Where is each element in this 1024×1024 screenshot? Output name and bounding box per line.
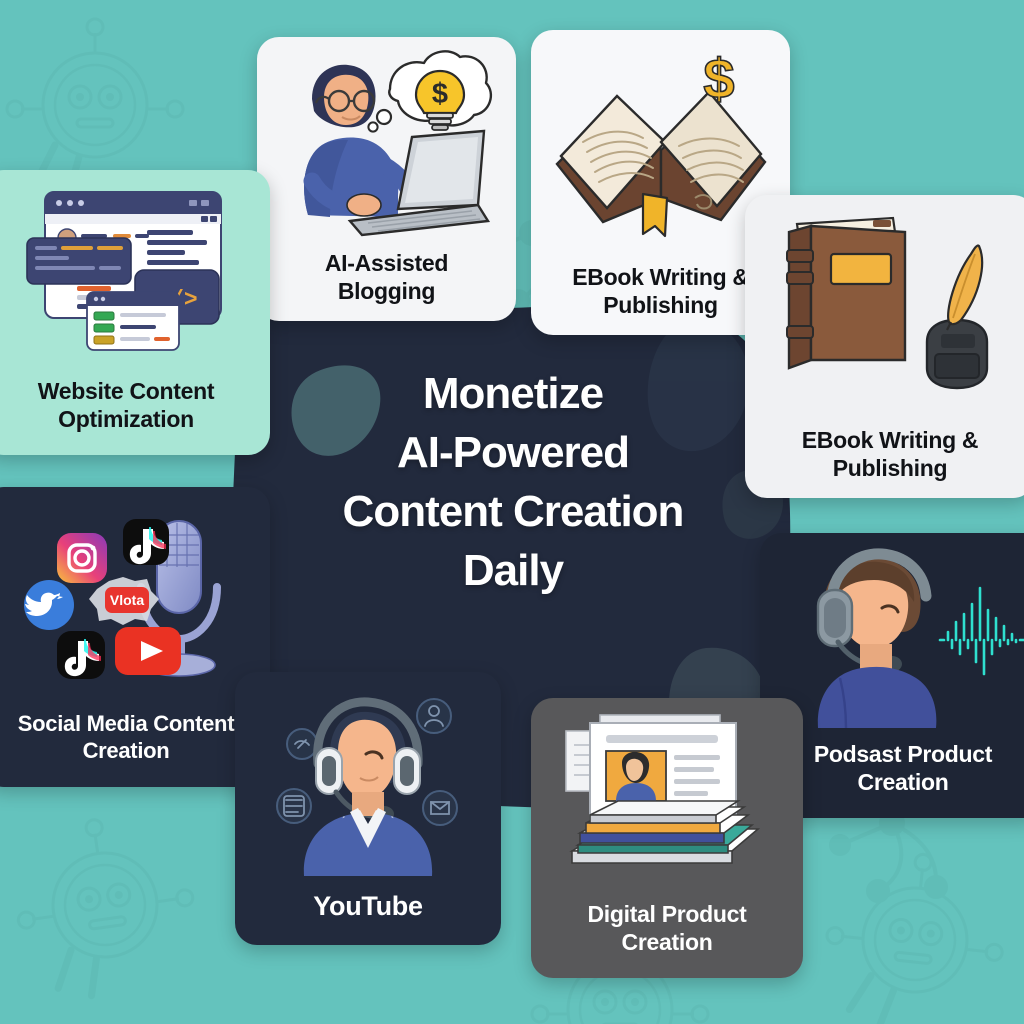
headline-line-2: AI-Powered <box>283 424 743 483</box>
person-laptop-idea-icon: $ <box>257 37 516 249</box>
leather-book-quill-icon <box>745 195 1024 426</box>
page-title: Monetize AI-Powered Content Creation Dai… <box>283 365 743 601</box>
card-label: Digital Product Creation <box>531 900 803 978</box>
card-label-line-2: Publishing <box>753 454 1024 482</box>
card-label-line-1: EBook Writing & <box>753 426 1024 454</box>
card-label-line-2: Creation <box>768 768 1024 796</box>
card-ai-assisted-blogging[interactable]: $ AI-A <box>257 37 516 321</box>
card-label-line-1: AI-Assisted <box>265 249 508 277</box>
tiktok-icon-top <box>123 519 169 565</box>
social-logos-microphone-icon: Vlota <box>0 487 270 711</box>
svg-text:$: $ <box>431 78 447 110</box>
card-label-line-1: Digital Product <box>539 900 795 928</box>
card-label-line-2: Creation <box>539 928 795 956</box>
card-ebook-writing-publishing-quill[interactable]: EBook Writing & Publishing <box>745 195 1024 498</box>
card-label-line-1: Podsast Product <box>768 740 1024 768</box>
tiktok-icon-bottom <box>57 631 105 679</box>
card-label-line-1: YouTube <box>243 890 493 923</box>
vlota-badge-label: Vlota <box>110 592 144 608</box>
headline-line-1: Monetize <box>283 365 743 424</box>
headline-line-3: Content Creation <box>283 483 743 542</box>
instagram-icon <box>57 533 107 583</box>
headline-line-4: Daily <box>283 542 743 601</box>
card-social-media-content-creation[interactable]: Vlota Social Media Content Creation <box>0 487 270 787</box>
card-label: EBook Writing & Publishing <box>745 426 1024 498</box>
card-website-content-optimization[interactable]: </> Website Content Optimization <box>0 170 270 455</box>
card-label: YouTube <box>235 890 501 945</box>
card-label: AI-Assisted Blogging <box>257 249 516 321</box>
twitter-icon <box>24 580 74 630</box>
youtube-icon <box>115 627 181 675</box>
stacked-books-document-icon <box>531 698 803 900</box>
card-label-line-2: Optimization <box>0 405 262 433</box>
card-label-line-2: Blogging <box>265 277 508 305</box>
card-youtube[interactable]: YouTube <box>235 672 501 945</box>
browser-windows-code-icon: </> <box>0 170 270 377</box>
card-label-line-1: Website Content <box>0 377 262 405</box>
headset-person-icon <box>235 672 501 890</box>
card-label: Social Media Content Creation <box>0 711 270 787</box>
card-digital-product-creation[interactable]: Digital Product Creation <box>531 698 803 978</box>
card-label-line-2: Creation <box>0 738 262 765</box>
svg-text:$: $ <box>703 47 734 110</box>
card-label: Website Content Optimization <box>0 377 270 455</box>
card-label-line-1: Social Media Content <box>0 711 262 738</box>
